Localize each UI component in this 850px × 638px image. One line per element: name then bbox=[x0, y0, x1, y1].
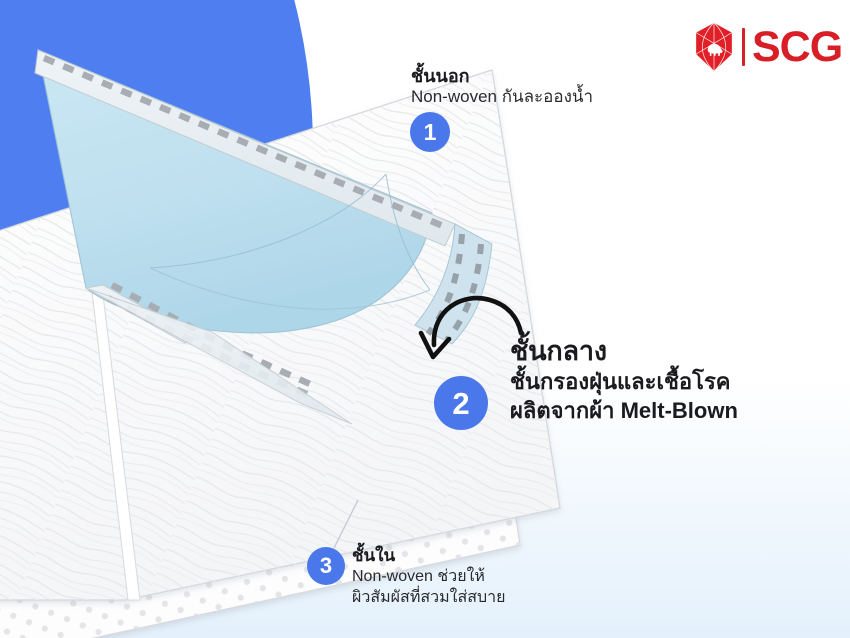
scg-wordmark: SCG bbox=[752, 26, 842, 69]
callout-3-line-2: ผิวสัมผัสที่สวมใส่สบาย bbox=[352, 587, 506, 608]
callout-1-title: ชั้นนอก bbox=[411, 66, 593, 86]
callout-2-line-2: ผลิตจากผ้า Melt-Blown bbox=[510, 396, 738, 425]
infographic-canvas: SCG ชั้นนอก Non-woven กันละอองน้ำ 1 ชั้น… bbox=[0, 0, 850, 638]
badge-number-3[interactable]: 3 bbox=[307, 547, 345, 585]
scg-hexagon-elephant-icon bbox=[688, 21, 740, 73]
callout-2-line-1: ชั้นกรองฝุ่นและเชื้อโรค bbox=[510, 367, 738, 396]
callout-inner-layer: ชั้นใน Non-woven ช่วยให้ ผิวสัมผัสที่สวม… bbox=[352, 546, 506, 608]
badge-number-2[interactable]: 2 bbox=[434, 376, 488, 430]
badge-number-1[interactable]: 1 bbox=[410, 112, 450, 152]
callout-3-line-1: Non-woven ช่วยให้ bbox=[352, 566, 506, 587]
scg-logo[interactable]: SCG bbox=[688, 21, 842, 73]
callout-middle-layer: ชั้นกลาง ชั้นกรองฝุ่นและเชื้อโรค ผลิตจาก… bbox=[510, 335, 738, 425]
callout-outer-layer: ชั้นนอก Non-woven กันละอองน้ำ bbox=[411, 66, 593, 108]
callout-2-title: ชั้นกลาง bbox=[510, 335, 738, 367]
callout-3-title: ชั้นใน bbox=[352, 546, 506, 566]
logo-divider bbox=[742, 28, 745, 66]
callout-1-line-1: Non-woven กันละอองน้ำ bbox=[411, 86, 593, 108]
